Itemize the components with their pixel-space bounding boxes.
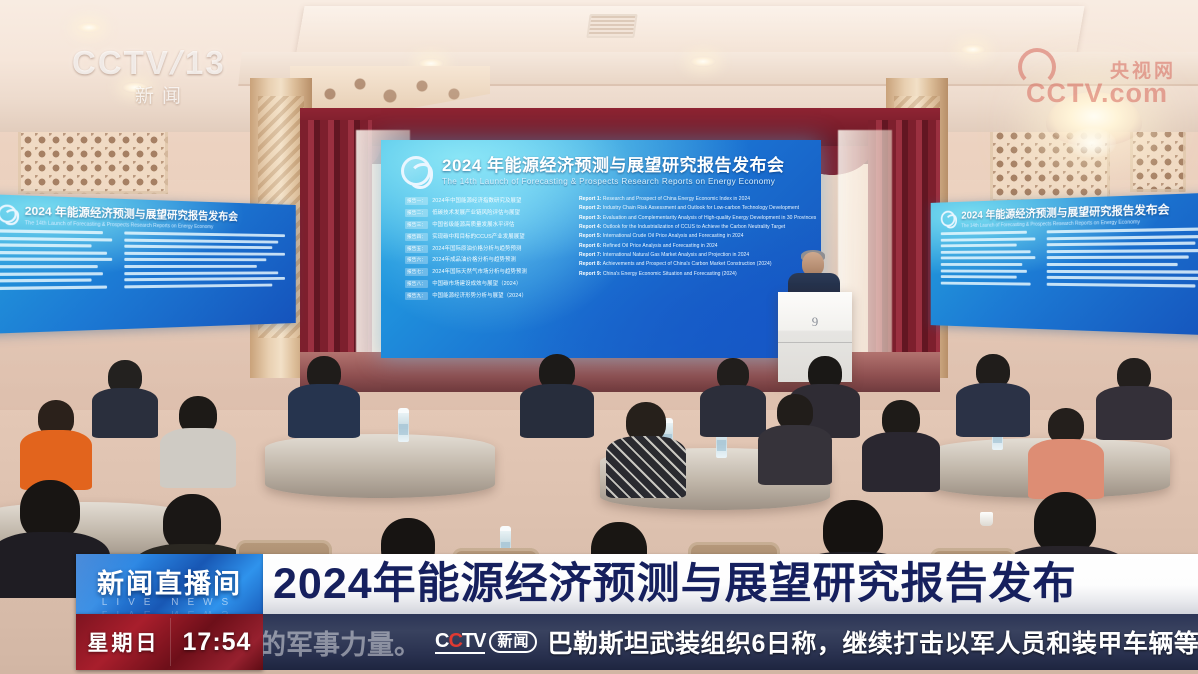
report-tag: 报告八：	[405, 280, 428, 288]
report-row-en: Report 5: International Crude Oil Price …	[579, 233, 809, 239]
report-row-cn: 报告二：低碳技术发展产业链风险评估与展望	[405, 208, 565, 217]
report-row-cn: 报告三：中国省级能源高质量发展水平评估	[405, 220, 565, 229]
ceiling-downlight	[76, 22, 102, 33]
ticker-text: 巴勒斯坦武装组织6日称，继续打击以军人员和装甲车辆等	[547, 624, 1198, 660]
report-text: 2024年国际天然气市场分析与趋势预测	[432, 267, 527, 275]
report-text: Evaluation and Complementarity Analysis …	[603, 215, 817, 221]
report-row-cn: 报告一：2024年中国能源经济指数研究及展望	[405, 196, 565, 205]
side-screen-header-left: 2024 年能源经济预测与展望研究报告发布会 The 14th Launch o…	[0, 201, 291, 232]
report-row-cn: 报告九：中国能源经济形势分析与展望（2024）	[405, 291, 565, 300]
headline-text: 2024年能源经济预测与展望研究报告发布	[273, 563, 1077, 606]
report-row-en: Report 2: Industry Chain Risk Assessment…	[579, 205, 809, 211]
wall-sconce-glow	[1068, 128, 1116, 158]
report-tag: 报告三：	[405, 221, 428, 229]
cctv-wordmark: CCTV	[72, 44, 170, 81]
clock-label: 17:54	[183, 628, 252, 657]
report-text: Outlook for the Industrialization of CCU…	[603, 224, 785, 230]
side-report-list-cn	[0, 229, 116, 329]
side-screen-body-right	[941, 227, 1198, 331]
report-row-cn: 报告五：2024年国际原油价格分析与趋势预测	[405, 244, 565, 253]
screen-title-en: The 14th Launch of Forecasting & Prospec…	[442, 177, 811, 186]
report-text: Achievements and Prospect of China's Car…	[603, 261, 772, 267]
headline-bar: 2024年能源经济预测与展望研究报告发布	[263, 554, 1198, 614]
report-text: 中国能源经济形势分析与展望（2024）	[432, 291, 527, 299]
report-label: Report 1:	[579, 196, 601, 202]
side-screen-body-left	[0, 229, 291, 329]
report-text: 中国省级能源高质量发展水平评估	[432, 220, 514, 228]
ceiling-downlight	[690, 56, 716, 67]
cctv-com-watermark: 央视网 CCTV.com	[960, 52, 1176, 110]
report-text: 中国碳市场建设成效与展望（2024）	[432, 279, 521, 287]
report-text: China's Energy Economic Situation and Fo…	[603, 271, 737, 277]
screen-header: 2024 年能源经济预测与展望研究报告发布会 The 14th Launch o…	[399, 148, 811, 194]
watermark-en: CCTV.com	[1026, 78, 1168, 109]
audience-member	[160, 396, 236, 482]
report-label: Report 5:	[579, 233, 601, 239]
channel-bug: CCTV/13 新闻	[72, 46, 252, 118]
cbmet-logo-icon	[939, 209, 956, 228]
report-row-en: Report 3: Evaluation and Complementarity…	[579, 215, 809, 221]
report-tag: 报告六：	[405, 256, 428, 264]
report-list-cn: 报告一：2024年中国能源经济指数研究及展望 报告二：低碳技术发展产业链风险评估…	[405, 196, 565, 346]
channel-bug-row: CCTV/13	[72, 46, 252, 79]
report-label: Report 3:	[579, 215, 601, 221]
report-row-en: Report 6: Refined Oil Price Analysis and…	[579, 243, 809, 249]
cctv-news-badge: CCTV 新闻	[435, 631, 537, 654]
report-tag: 报告七：	[405, 268, 428, 276]
report-text: 实现碳中和目标的CCUS产业发展展望	[432, 232, 525, 240]
report-label: Report 7:	[579, 252, 601, 258]
report-row-cn: 报告七：2024年国际天然气市场分析与趋势预测	[405, 267, 565, 276]
audience-member	[288, 356, 360, 432]
audience-member	[606, 402, 686, 494]
audience-member	[92, 360, 158, 432]
side-led-screen-left: 2024 年能源经济预测与展望研究报告发布会 The 14th Launch o…	[0, 194, 296, 334]
report-text: Refined Oil Price Analysis and Forecasti…	[603, 243, 718, 249]
report-tag: 报告二：	[405, 209, 428, 217]
screen-report-lists: 报告一：2024年中国能源经济指数研究及展望 报告二：低碳技术发展产业链风险评估…	[405, 196, 809, 346]
audience-member	[862, 400, 940, 490]
audience-member	[758, 394, 832, 482]
report-text: Research and Prospect of China Energy Ec…	[603, 196, 750, 202]
side-report-list-cn	[941, 231, 1039, 326]
cctv-badge-cn: 新闻	[489, 631, 537, 654]
stage-led-screen: 2024 年能源经济预测与展望研究报告发布会 The 14th Launch o…	[381, 140, 821, 358]
program-name-en: LIVE NEWS	[76, 597, 263, 608]
program-name-cn: 新闻直播间	[76, 562, 263, 601]
ceiling-air-vent	[586, 14, 637, 38]
lower-third: 新闻直播间 LIVE NEWS LIVE NEWS 星期日 17:54 2024…	[0, 550, 1198, 674]
side-report-list-en	[1047, 227, 1198, 331]
podium-number: 9	[778, 314, 852, 330]
report-text: Industry Chain Risk Assessment and Outlo…	[603, 205, 799, 211]
weekday-label: 星期日	[88, 627, 160, 657]
audience-member	[20, 400, 92, 484]
report-label: Report 6:	[579, 243, 601, 249]
report-row-en: Report 4: Outlook for the Industrializat…	[579, 224, 809, 230]
report-row-cn: 报告四：实现碳中和目标的CCUS产业发展展望	[405, 232, 565, 241]
screen-title-cn: 2024 年能源经济预测与展望研究报告发布会	[442, 156, 811, 176]
cbmet-logo-icon	[399, 154, 433, 188]
report-text: International Natural Gas Market Analysi…	[603, 252, 749, 258]
channel-number: 13	[185, 44, 226, 81]
conference-table	[265, 434, 495, 498]
report-text: 低碳技术发展产业链风险评估与展望	[432, 208, 520, 216]
ticker-bar: 的军事力量。 CCTV 新闻 巴勒斯坦武装组织6日称，继续打击以军人员和装甲车辆…	[263, 614, 1198, 670]
audience-member	[956, 354, 1030, 432]
channel-bug-cn: 新闻	[72, 81, 252, 108]
broadcast-screen: 2024 年能源经济预测与展望研究报告发布会 The 14th Launch o…	[0, 0, 1198, 674]
cbmet-logo-icon	[0, 203, 18, 225]
report-tag: 报告一：	[405, 197, 428, 205]
audience-member	[520, 354, 594, 432]
report-text: International Crude Oil Price Analysis a…	[603, 233, 744, 239]
report-tag: 报告五：	[405, 245, 428, 253]
report-row-cn: 报告八：中国碳市场建设成效与展望（2024）	[405, 279, 565, 288]
report-label: Report 2:	[579, 205, 601, 211]
report-row-en: Report 1: Research and Prospect of China…	[579, 196, 809, 202]
report-text: 2024年中国能源经济指数研究及展望	[432, 196, 521, 204]
side-report-list-en	[124, 231, 290, 324]
datetime-box: 星期日 17:54	[76, 614, 263, 670]
water-bottle	[398, 408, 409, 442]
side-led-screen-right: 2024 年能源经济预测与展望研究报告发布会 The 14th Launch o…	[931, 192, 1198, 336]
program-logo-box: 新闻直播间 LIVE NEWS LIVE NEWS	[76, 554, 263, 614]
report-label: Report 4:	[579, 224, 601, 230]
audience-member	[1096, 358, 1172, 434]
audience-member	[700, 358, 766, 432]
audience-member	[1028, 408, 1104, 496]
report-label: Report 8:	[579, 261, 601, 267]
report-tag: 报告四：	[405, 233, 428, 241]
paper-cup	[980, 512, 993, 526]
report-tag: 报告九：	[405, 292, 428, 300]
report-text: 2024年成品油价格分析与趋势预测	[432, 255, 516, 263]
cctv-badge-wordmark: CCTV	[435, 631, 485, 654]
report-text: 2024年国际原油价格分析与趋势预测	[432, 244, 521, 252]
screen-title-block: 2024 年能源经济预测与展望研究报告发布会 The 14th Launch o…	[442, 156, 811, 187]
side-screen-header-right: 2024 年能源经济预测与展望研究报告发布会 The 14th Launch o…	[939, 199, 1198, 230]
report-row-cn: 报告六：2024年成品油价格分析与趋势预测	[405, 255, 565, 264]
previous-caption-tail: 的军事力量。	[263, 623, 421, 662]
report-label: Report 9:	[579, 271, 601, 277]
